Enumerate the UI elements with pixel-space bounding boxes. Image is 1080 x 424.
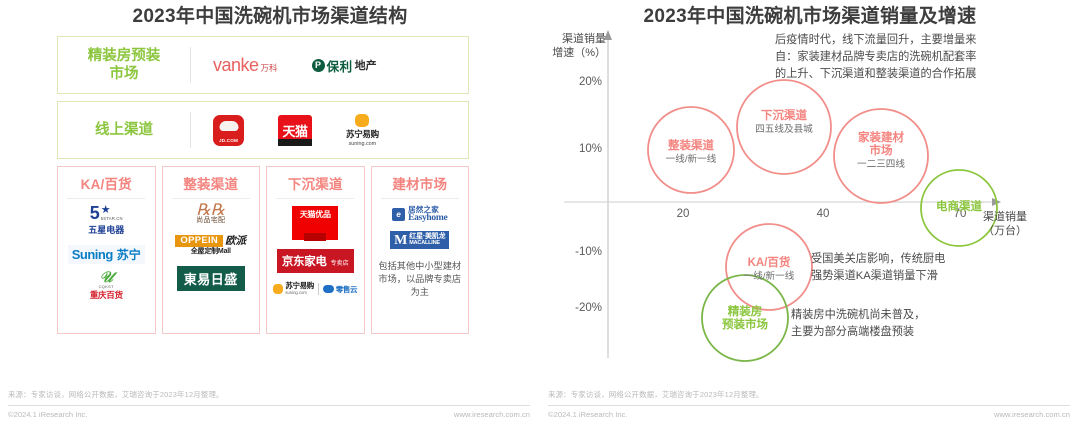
oppein-logo: OPPEIN 欧派 全屋定制Mall (175, 235, 246, 257)
macalline-en: MACALLINE (409, 240, 445, 247)
tmall-youpin-cn: 天猫优品 (300, 209, 331, 220)
column-rule (172, 198, 250, 199)
row-label-prefab: 精装房预装 市场 (58, 47, 190, 83)
label-prefab-housing: 精装房 预装市场 (695, 306, 795, 332)
column-rule (67, 198, 145, 199)
oppein-top: OPPEIN 欧派 (175, 235, 246, 247)
five-star-right: ★ 5STAR.CN (101, 206, 123, 223)
note-middle: 受国美关店影响，传统厨电 强势渠道KA渠道销量下滑 (811, 251, 1061, 285)
suning-cloud-cn: 苏宁易购 (285, 282, 313, 289)
y-tick-neg10: -10% (554, 246, 602, 258)
five-star-cn: 五星电器 (88, 223, 124, 236)
column-head-sinking: 下沉渠道 (288, 173, 343, 198)
right-panel: 2023年中国洗碗机市场渠道销量及增速 渠道销量 增速（%） (540, 0, 1080, 424)
poly-real-estate-logo: P 保利 地产 (312, 56, 377, 75)
left-website[interactable]: www.iresearch.com.cn (454, 410, 530, 419)
label-home-building-market: 家装建材 市场 一二三四线 (831, 132, 931, 171)
jd-home-cn: 京东家电 (282, 253, 327, 269)
easyhome-logo: e 居然之家 Easyhome (392, 206, 447, 222)
vanke-logo-en: vanke (213, 55, 259, 76)
tmall-logo-cn: 天猫 (282, 121, 307, 140)
y-axis-title: 渠道销量 增速（%） (534, 32, 606, 60)
label-ecommerce-title: 电商渠道 (909, 201, 1009, 214)
oppein-en: OPPEIN (175, 235, 223, 247)
label-sinking-channel: 下沉渠道 四五线及县城 (734, 110, 834, 136)
chongqing-department-store-logo: 𝒰 CQKST 重庆百货 (90, 273, 123, 300)
column-body-whole-house: ℞℞ 尚品宅配 OPPEIN 欧派 全屋定制Mall 東易日盛 (167, 206, 256, 329)
oppein-cn: 欧派 (225, 236, 246, 246)
column-body-ka: 5 ★ 5STAR.CN 五星电器 Suning 苏宁 (62, 206, 151, 329)
logo-separator (318, 283, 319, 295)
row-prefab-housing: 精装房预装 市场 vanke 万科 P 保利 地产 (57, 36, 469, 94)
label-ka-department: KA/百货 一线/新一线 (719, 257, 819, 283)
building-market-note: 包括其他中小型建材市场，以品牌专卖店为主 (376, 258, 465, 299)
jd-dog-icon (219, 121, 238, 131)
suning-blue-en: Suning (72, 247, 113, 262)
right-footer-bottom: ©2024.1 iResearch Inc. www.iresearch.com… (548, 406, 1070, 419)
note-top-l2: 自：家装建材品牌专卖店的洗碗机配套率 (775, 49, 1080, 66)
note-bot-l1: 精装房中洗碗机尚未普及， (791, 307, 1051, 324)
tmall-youpin-logo: 天猫优品 (292, 206, 338, 240)
left-footer: 来源：专家访谈，网络公开数据，艾瑞咨询于2023年12月整理。 ©2024.1 … (8, 389, 530, 419)
retail-cloud-cn: 零售云 (336, 284, 357, 295)
shangpin-cn: 尚品宅配 (196, 216, 225, 226)
suning-lion-icon (273, 284, 283, 294)
left-panel-title: 2023年中国洗碗机市场渠道结构 (0, 0, 540, 29)
row-label-online: 线上渠道 (58, 121, 190, 139)
left-source-text: 来源：专家访谈，网络公开数据，艾瑞咨询于2023年12月整理。 (8, 389, 530, 405)
y-axis-title-l1: 渠道销量 (534, 32, 606, 46)
row-logos-prefab: vanke 万科 P 保利 地产 (191, 55, 468, 76)
easyhome-mark-icon: e (392, 208, 405, 221)
bubble-chart: 渠道销量 增速（%） 渠道销量 （万台） 20% 10% -10% -20% 2… (540, 28, 1080, 368)
oppein-sub: 全屋定制Mall (191, 247, 231, 257)
five-star-number: 5 (90, 206, 100, 220)
easyhome-en: Easyhome (408, 214, 447, 222)
shangpin-mark-icon: ℞℞ (196, 206, 225, 216)
label-whole-house-title: 整装渠道 (641, 140, 741, 153)
suning-group: 苏宁易购 suning.com (273, 282, 313, 296)
easyhome-text: 居然之家 Easyhome (408, 206, 447, 222)
note-mid-l2: 强势渠道KA渠道销量下滑 (811, 268, 1061, 285)
column-body-sinking: 天猫优品 京东家电 专卖店 苏宁易购 s (271, 206, 360, 329)
column-ka-department-store: KA/百货 5 ★ 5STAR.CN 五星电器 (57, 166, 156, 334)
cqbh-cn: 重庆百货 (90, 291, 123, 300)
vanke-logo-cn: 万科 (261, 62, 278, 74)
suning-text: 苏宁易购 suning.com (285, 282, 313, 296)
cqbh-mark-icon: 𝒰 (99, 273, 113, 282)
tmall-cat-icon (304, 233, 326, 241)
y-axis-title-l2: 增速（%） (534, 46, 606, 60)
label-whole-house-sub: 一线/新一线 (641, 153, 741, 166)
x-tick-20: 20 (668, 208, 698, 220)
row-online-channel: 线上渠道 JD.COM 天猫 苏宁易购 suning.com (57, 101, 469, 159)
five-star-appliance-logo: 5 ★ 5STAR.CN 五星电器 (88, 206, 124, 236)
five-star-domain: 5STAR.CN (101, 215, 123, 223)
label-ecommerce-channel: 电商渠道 (909, 201, 1009, 214)
macalline-cn: 红星·美凯龙 (409, 233, 445, 240)
row-logos-online: JD.COM 天猫 苏宁易购 suning.com (191, 114, 468, 147)
right-website[interactable]: www.iresearch.com.cn (994, 410, 1070, 419)
row-label-line2: 市场 (58, 65, 190, 83)
suning-lion-icon (355, 114, 369, 127)
macalline-text: 红星·美凯龙 MACALLINE (409, 233, 445, 247)
star-icon: ★ (101, 206, 123, 215)
note-top: 后疫情时代，线下流量回升，主要增量来 自：家装建材品牌专卖店的洗碗机配套率 的上… (775, 32, 1080, 83)
shangpin-homedeco-logo: ℞℞ 尚品宅配 (196, 206, 225, 226)
label-home-building-sub: 一二三四线 (831, 158, 931, 171)
channel-structure-body: 精装房预装 市场 vanke 万科 P 保利 地产 (57, 36, 469, 334)
poly-logo-cn2: 地产 (355, 57, 377, 73)
column-head-whole-house: 整装渠道 (183, 173, 238, 198)
note-top-l3: 的上升、下沉渠道和整装渠道的合作拓展 (775, 66, 1080, 83)
infographic-page: 2023年中国洗碗机市场渠道结构 精装房预装 市场 vanke 万科 P 保利 (0, 0, 1080, 424)
right-panel-title: 2023年中国洗碗机市场渠道销量及增速 (540, 0, 1080, 29)
column-head-ka: KA/百货 (81, 173, 132, 198)
y-tick-20: 20% (560, 76, 602, 88)
column-rule (381, 198, 459, 199)
label-home-building-title2: 市场 (831, 145, 931, 158)
suning-logo: 苏宁易购 suning.com (346, 114, 379, 147)
right-copyright: ©2024.1 iResearch Inc. (548, 410, 627, 419)
label-home-building-title1: 家装建材 (831, 132, 931, 145)
left-panel: 2023年中国洗碗机市场渠道结构 精装房预装 市场 vanke 万科 P 保利 (0, 0, 540, 424)
vanke-logo: vanke 万科 (213, 55, 278, 76)
suning-logo-en: suning.com (349, 141, 377, 147)
column-body-building: e 居然之家 Easyhome M 红星·美凯龙 MACALLINE (376, 206, 465, 329)
row-label-line1: 精装房预装 (58, 47, 190, 65)
label-ka-title: KA/百货 (719, 257, 819, 270)
column-building-material-market: 建材市场 e 居然之家 Easyhome M (371, 166, 470, 334)
note-bottom: 精装房中洗碗机尚未普及， 主要为部分高端楼盘预装 (791, 307, 1051, 341)
poly-badge-icon: P (312, 59, 325, 72)
suning-logo-cn: 苏宁易购 (346, 128, 379, 140)
note-bot-l2: 主要为部分高端楼盘预装 (791, 324, 1051, 341)
jd-home-appliance-logo: 京东家电 专卖店 (277, 249, 354, 273)
column-sinking-channel: 下沉渠道 天猫优品 京东家电 专卖店 (266, 166, 365, 334)
suning-retail-cloud-logo: 苏宁易购 suning.com 零售云 (273, 282, 357, 296)
tmall-cat-icon (278, 139, 312, 146)
jd-logo: JD.COM (213, 115, 244, 146)
column-whole-house-channel: 整装渠道 ℞℞ 尚品宅配 OPPEIN 欧派 全屋定制Mall (162, 166, 261, 334)
x-axis-title-l2: （万台） (965, 224, 1045, 238)
label-sinking-title: 下沉渠道 (734, 110, 834, 123)
label-sinking-sub: 四五线及县城 (734, 123, 834, 136)
jd-logo-text: JD.COM (219, 138, 238, 143)
dongyirisheng-logo: 東易日盛 (177, 266, 245, 291)
x-axis-title: 渠道销量 （万台） (965, 210, 1045, 238)
y-tick-neg20: -20% (554, 302, 602, 314)
red-star-macalline-logo: M 红星·美凯龙 MACALLINE (390, 231, 449, 249)
macalline-mark-icon: M (394, 234, 407, 247)
label-prefab-title1: 精装房 (695, 306, 795, 319)
column-rule (276, 198, 354, 199)
column-head-building: 建材市场 (392, 173, 447, 198)
tmall-logo: 天猫 (278, 115, 312, 146)
poly-logo-cn: 保利 (327, 56, 353, 75)
note-top-l1: 后疫情时代，线下流量回升，主要增量来 (775, 32, 1080, 49)
suning-blue-cn: 苏宁 (117, 246, 141, 263)
y-tick-10: 10% (560, 143, 602, 155)
five-star-mark: 5 ★ 5STAR.CN (90, 206, 123, 223)
suning-blue-logo: Suning 苏宁 (68, 245, 145, 264)
retail-cloud-group: 零售云 (323, 284, 357, 295)
left-footer-bottom: ©2024.1 iResearch Inc. www.iresearch.com… (8, 406, 530, 419)
retail-cloud-icon (323, 285, 334, 293)
right-footer: 来源：专家访谈，网络公开数据，艾瑞咨询于2023年12月整理。 ©2024.1 … (548, 389, 1070, 419)
label-whole-house-channel: 整装渠道 一线/新一线 (641, 140, 741, 166)
suning-cloud-en: suning.com (285, 289, 313, 296)
channel-columns: KA/百货 5 ★ 5STAR.CN 五星电器 (57, 166, 469, 334)
right-source-text: 来源：专家访谈，网络公开数据，艾瑞咨询于2023年12月整理。 (548, 389, 1070, 405)
jd-home-sub: 专卖店 (331, 258, 349, 267)
label-prefab-title2: 预装市场 (695, 319, 795, 332)
note-mid-l1: 受国美关店影响，传统厨电 (811, 251, 1061, 268)
left-copyright: ©2024.1 iResearch Inc. (8, 410, 87, 419)
label-ka-sub: 一线/新一线 (719, 270, 819, 283)
x-tick-40: 40 (808, 208, 838, 220)
